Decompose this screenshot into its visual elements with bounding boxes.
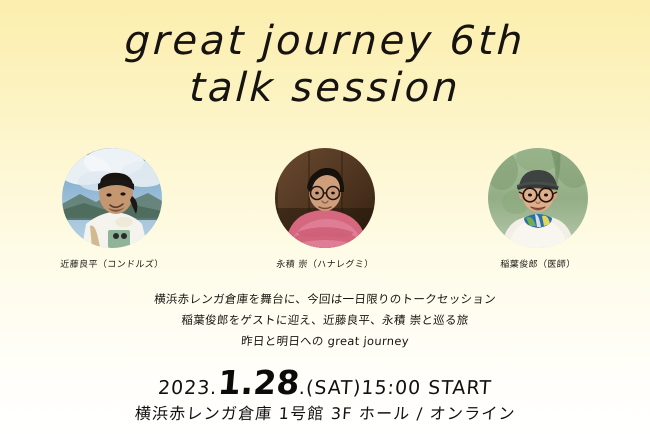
event-date: 2023.1.28.(SAT)15:00 START [0, 363, 650, 402]
description-line-3: 昨日と明日への great journey [0, 331, 650, 352]
description-block: 横浜赤レンガ倉庫を舞台に、今回は一日限りのトークセッション 稲葉俊郎をゲストに迎… [0, 289, 650, 352]
speaker-photo-1 [62, 148, 162, 248]
date-year: 2023. [157, 377, 218, 399]
venue-text: 横浜赤レンガ倉庫 1号館 3F ホール / オンライン [134, 400, 516, 424]
date-time: .(SAT)15:00 START [298, 377, 492, 399]
speaker-caption-1: 近藤良平（コンドルズ） [4, 257, 221, 270]
date-day: 1.28 [216, 363, 301, 402]
title-line-2: talk session [0, 65, 650, 112]
portrait-illustration-3 [488, 148, 588, 248]
speaker-photo-3 [488, 148, 588, 248]
event-venue: 横浜赤レンガ倉庫 1号館 3F ホール / オンライン [0, 400, 650, 424]
speaker-portrait-row: 近藤良平（コンドルズ） [0, 148, 650, 288]
speaker-photo-2 [275, 148, 375, 248]
portrait-illustration-1 [62, 148, 162, 248]
speaker-caption-2: 永積 崇（ハナレグミ） [217, 257, 434, 270]
poster-title: great journey 6th talk session [0, 18, 650, 112]
description-line-1: 横浜赤レンガ倉庫を舞台に、今回は一日限りのトークセッション [0, 289, 650, 310]
description-line-2: 稲葉俊郎をゲストに迎え、近藤良平、永積 崇と巡る旅 [0, 310, 650, 331]
speaker-caption-3: 稲葉俊郎（医師） [430, 257, 647, 270]
speaker-card-3: 稲葉俊郎（医師） [430, 148, 646, 270]
event-poster: great journey 6th talk session [0, 0, 650, 434]
speaker-card-1: 近藤良平（コンドルズ） [4, 148, 220, 270]
title-line-1: great journey 6th [0, 18, 650, 65]
portrait-illustration-2 [275, 148, 375, 248]
speaker-card-2: 永積 崇（ハナレグミ） [217, 148, 433, 270]
photo-corner-fold-icon [361, 148, 375, 162]
